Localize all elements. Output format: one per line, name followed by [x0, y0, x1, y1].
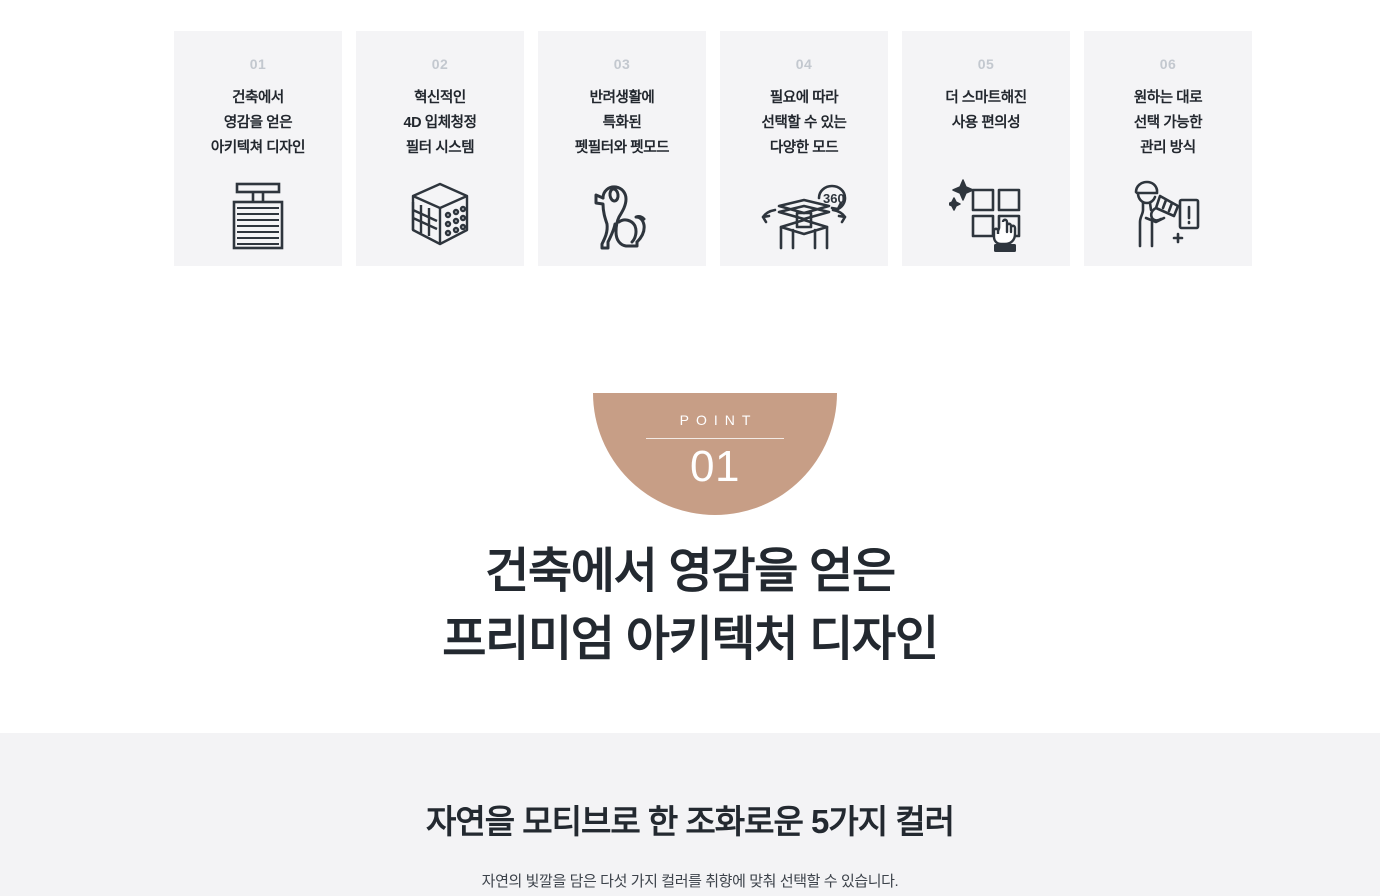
svg-text:360: 360	[823, 191, 845, 206]
point-badge-label: POINT	[673, 413, 758, 427]
air-360-icon: 360	[758, 174, 850, 252]
feature-card-01[interactable]: 01 건축에서 영감을 얻은 아키텍쳐 디자인	[174, 31, 342, 266]
page-title: 건축에서 영감을 얻은 프리미엄 아키텍처 디자인	[0, 538, 1380, 674]
feature-card-title-line: 선택할 수 있는	[726, 111, 882, 136]
feature-card-title: 원하는 대로 선택 가능한 관리 방식	[1084, 86, 1252, 161]
dog-icon	[576, 174, 668, 252]
feature-card-number: 06	[1160, 57, 1177, 71]
feature-card-title: 더 스마트해진 사용 편의성	[902, 86, 1070, 136]
feature-card-number: 04	[796, 57, 813, 71]
feature-card-title-line: 필터 시스템	[362, 136, 518, 161]
feature-card-title-line: 펫필터와 펫모드	[544, 136, 700, 161]
feature-card-title-line: 영감을 얻은	[180, 111, 336, 136]
feature-card-title-line: 4D 입체청정	[362, 111, 518, 136]
feature-card-title-line: 관리 방식	[1090, 136, 1246, 161]
color-section-title: 자연을 모티브로 한 조화로운 5가지 컬러	[0, 802, 1380, 842]
product-feature-page: 01 건축에서 영감을 얻은 아키텍쳐 디자인	[0, 0, 1380, 896]
louver-slats-icon	[212, 174, 304, 252]
point-badge-number: 01	[690, 443, 740, 491]
feature-card-title-line: 특화된	[544, 111, 700, 136]
feature-card-title: 건축에서 영감을 얻은 아키텍쳐 디자인	[174, 86, 342, 161]
cube-filter-icon	[394, 174, 486, 252]
feature-card-title-line: 반려생활에	[544, 86, 700, 111]
feature-card-04[interactable]: 04 필요에 따라 선택할 수 있는 다양한 모드 360	[720, 31, 888, 266]
feature-card-number: 05	[978, 57, 995, 71]
feature-card-title-line: 사용 편의성	[908, 111, 1064, 136]
feature-card-title-line: 건축에서	[180, 86, 336, 111]
feature-card-title: 필요에 따라 선택할 수 있는 다양한 모드	[720, 86, 888, 161]
feature-card-06[interactable]: 06 원하는 대로 선택 가능한 관리 방식	[1084, 31, 1252, 266]
feature-card-title-line: 더 스마트해진	[908, 86, 1064, 111]
service-person-icon	[1122, 174, 1214, 252]
feature-card-number: 01	[250, 57, 267, 71]
feature-card-title-line: 아키텍쳐 디자인	[180, 136, 336, 161]
feature-card-title-line: 다양한 모드	[726, 136, 882, 161]
feature-card-03[interactable]: 03 반려생활에 특화된 펫필터와 펫모드	[538, 31, 706, 266]
feature-card-title-line: 선택 가능한	[1090, 111, 1246, 136]
point-badge: POINT 01	[593, 393, 837, 515]
feature-card-title-line: 원하는 대로	[1090, 86, 1246, 111]
color-section: 자연을 모티브로 한 조화로운 5가지 컬러 자연의 빛깔을 담은 다섯 가지 …	[0, 733, 1380, 896]
feature-card-number: 03	[614, 57, 631, 71]
color-section-subtitle: 자연의 빛깔을 담은 다섯 가지 컬러를 취향에 맞춰 선택할 수 있습니다.	[0, 871, 1380, 892]
touch-panel-icon	[940, 174, 1032, 252]
feature-card-title-line: 필요에 따라	[726, 86, 882, 111]
feature-card-02[interactable]: 02 혁신적인 4D 입체청정 필터 시스템	[356, 31, 524, 266]
feature-card-title: 반려생활에 특화된 펫필터와 펫모드	[538, 86, 706, 161]
feature-card-strip: 01 건축에서 영감을 얻은 아키텍쳐 디자인	[174, 31, 1254, 266]
point-badge-divider	[646, 438, 784, 439]
page-title-line-2: 프리미엄 아키텍처 디자인	[0, 606, 1380, 674]
feature-card-title-line: 혁신적인	[362, 86, 518, 111]
feature-card-number: 02	[432, 57, 449, 71]
feature-card-05[interactable]: 05 더 스마트해진 사용 편의성	[902, 31, 1070, 266]
feature-card-title: 혁신적인 4D 입체청정 필터 시스템	[356, 86, 524, 161]
page-title-line-1: 건축에서 영감을 얻은	[0, 538, 1380, 606]
